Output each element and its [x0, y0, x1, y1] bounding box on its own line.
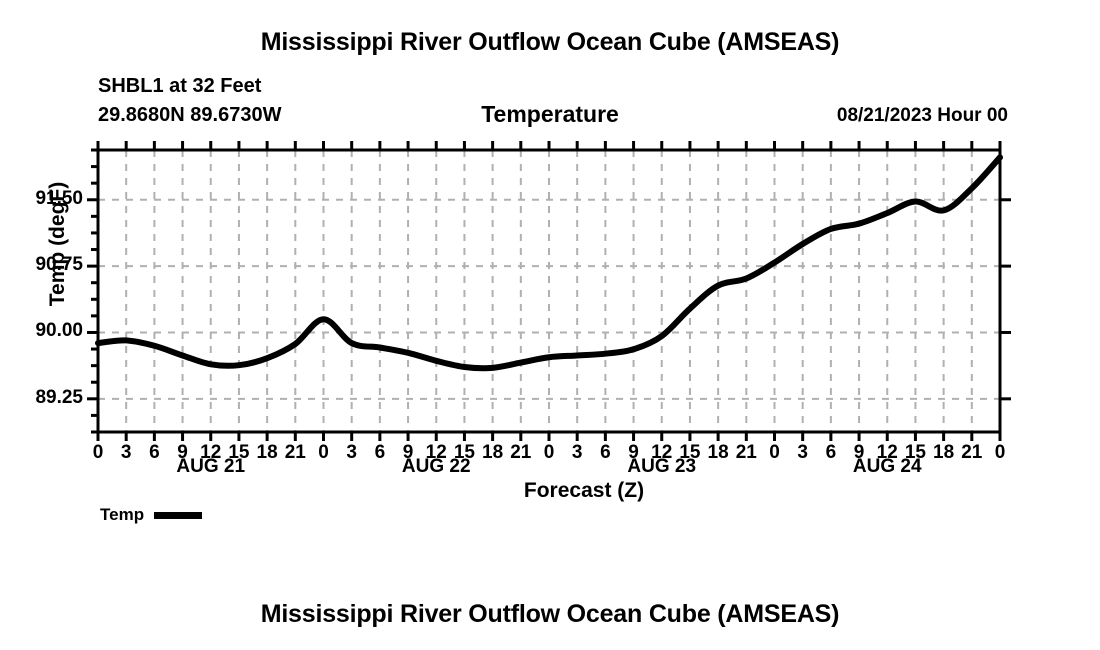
y-tick-label: 89.25 — [3, 387, 83, 409]
gridlines — [98, 150, 1000, 432]
x-day-label: AUG 24 — [827, 456, 947, 478]
legend-swatch-temp — [154, 512, 202, 519]
x-tick-label: 0 — [985, 442, 1015, 464]
x-tick-label: 3 — [562, 442, 592, 464]
x-day-label: AUG 21 — [151, 456, 271, 478]
x-axis-title: Forecast (Z) — [0, 479, 1100, 503]
footer-title: Mississippi River Outflow Ocean Cube (AM… — [0, 600, 1100, 629]
x-tick-label: 21 — [280, 442, 310, 464]
x-tick-label: 3 — [788, 442, 818, 464]
y-tick-label: 91.50 — [3, 188, 83, 210]
x-day-label: AUG 23 — [602, 456, 722, 478]
x-tick-label: 0 — [534, 442, 564, 464]
x-day-label: AUG 22 — [376, 456, 496, 478]
y-tick-label: 90.75 — [3, 254, 83, 276]
legend: Temp — [100, 505, 202, 525]
x-tick-label: 21 — [731, 442, 761, 464]
x-tick-label: 21 — [957, 442, 987, 464]
legend-label-temp: Temp — [100, 505, 144, 525]
x-tick-label: 3 — [111, 442, 141, 464]
x-tick-label: 0 — [83, 442, 113, 464]
chart-page: Mississippi River Outflow Ocean Cube (AM… — [0, 0, 1100, 650]
y-tick-label: 90.00 — [3, 320, 83, 342]
chart-plot-area — [0, 0, 1100, 480]
x-tick-label: 3 — [337, 442, 367, 464]
x-tick-label: 0 — [760, 442, 790, 464]
x-tick-label: 0 — [309, 442, 339, 464]
x-tick-label: 21 — [506, 442, 536, 464]
